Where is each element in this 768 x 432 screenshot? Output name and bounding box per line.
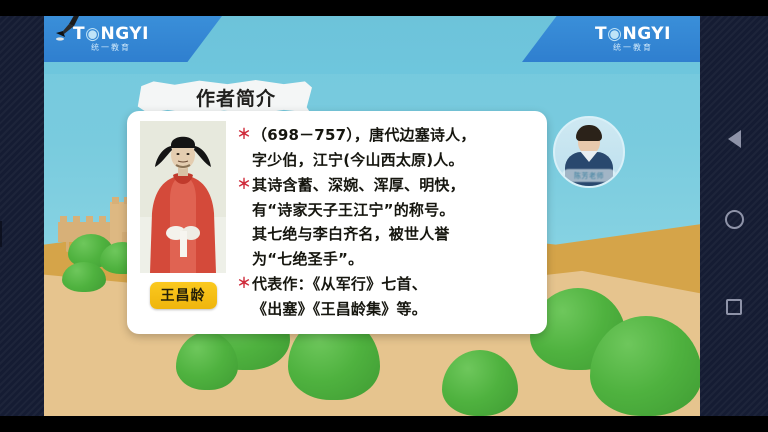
device-screen: T◉NGYI 统一教育 T◉NGYI 统一教育 作者简介 — [0, 0, 768, 432]
volume-button[interactable] — [0, 221, 2, 247]
bullet-line: 《出塞》《王昌龄集》等。 — [252, 297, 535, 322]
list-item: ＊ 其诗含蓄、深婉、浑厚、明快， 有“诗家天子王江宁”的称号。 其七绝与李白齐名… — [237, 173, 535, 271]
android-navigation-bar — [700, 16, 768, 416]
author-bullet-list: ＊ （698－757），唐代边塞诗人， 字少伯，江宁(今山西太原)人。 ＊ 其诗… — [228, 121, 535, 324]
brand-tagline-right: 统一教育 — [595, 44, 671, 52]
letterbox-top-bar — [0, 0, 768, 16]
bullet-line: 有“诗家天子王江宁”的称号。 — [252, 198, 535, 223]
lesson-slide: T◉NGYI 统一教育 T◉NGYI 统一教育 作者简介 — [44, 16, 700, 416]
brush-pen-icon — [54, 16, 96, 44]
asterisk-bullet-icon: ＊ — [237, 272, 252, 321]
bullet-line: 为“七绝圣手”。 — [252, 247, 535, 272]
recents-button[interactable] — [721, 294, 747, 320]
list-item: ＊ （698－757），唐代边塞诗人， 字少伯，江宁(今山西太原)人。 — [237, 123, 535, 172]
bullet-line: （698－757），唐代边塞诗人， — [252, 123, 535, 148]
slide-title-banner: 作者简介 — [136, 80, 312, 114]
bullet-line: 字少伯，江宁(今山西太原)人。 — [252, 148, 535, 173]
bullet-line: 其诗含蓄、深婉、浑厚、明快， — [252, 173, 535, 198]
asterisk-bullet-icon: ＊ — [237, 123, 252, 172]
back-button[interactable] — [721, 126, 747, 152]
circle-home-icon — [725, 210, 744, 229]
home-button[interactable] — [721, 206, 747, 232]
triangle-back-icon — [728, 130, 741, 148]
author-info-card: 王昌龄 ＊ （698－757），唐代边塞诗人， 字少伯，江宁(今山西太原)人。 … — [127, 111, 547, 334]
portrait-column: 王昌龄 — [138, 121, 228, 324]
brand-wordmark: T◉NGYI — [595, 26, 671, 43]
page-title: 作者简介 — [136, 80, 312, 114]
list-item: ＊ 代表作：《从军行》七首、 《出塞》《王昌龄集》等。 — [237, 272, 535, 321]
teacher-video-bubble[interactable]: 陈芳老师 — [553, 116, 625, 188]
left-bezel — [0, 16, 44, 416]
globe-icon: ◉ — [607, 26, 622, 43]
bullet-line: 代表作：《从军行》七首、 — [252, 272, 535, 297]
author-name-badge: 王昌龄 — [150, 282, 217, 309]
teacher-hair — [576, 125, 602, 141]
letterbox-bottom-bar — [0, 416, 768, 432]
asterisk-bullet-icon: ＊ — [237, 173, 252, 271]
brand-tagline-left: 统一教育 — [73, 44, 149, 52]
bullet-line: 其七绝与李白齐名，被世人誉 — [252, 222, 535, 247]
author-portrait-painting — [140, 121, 226, 273]
square-recents-icon — [726, 299, 742, 315]
author-portrait — [140, 121, 226, 273]
teacher-name-label: 陈芳老师 — [562, 169, 616, 182]
